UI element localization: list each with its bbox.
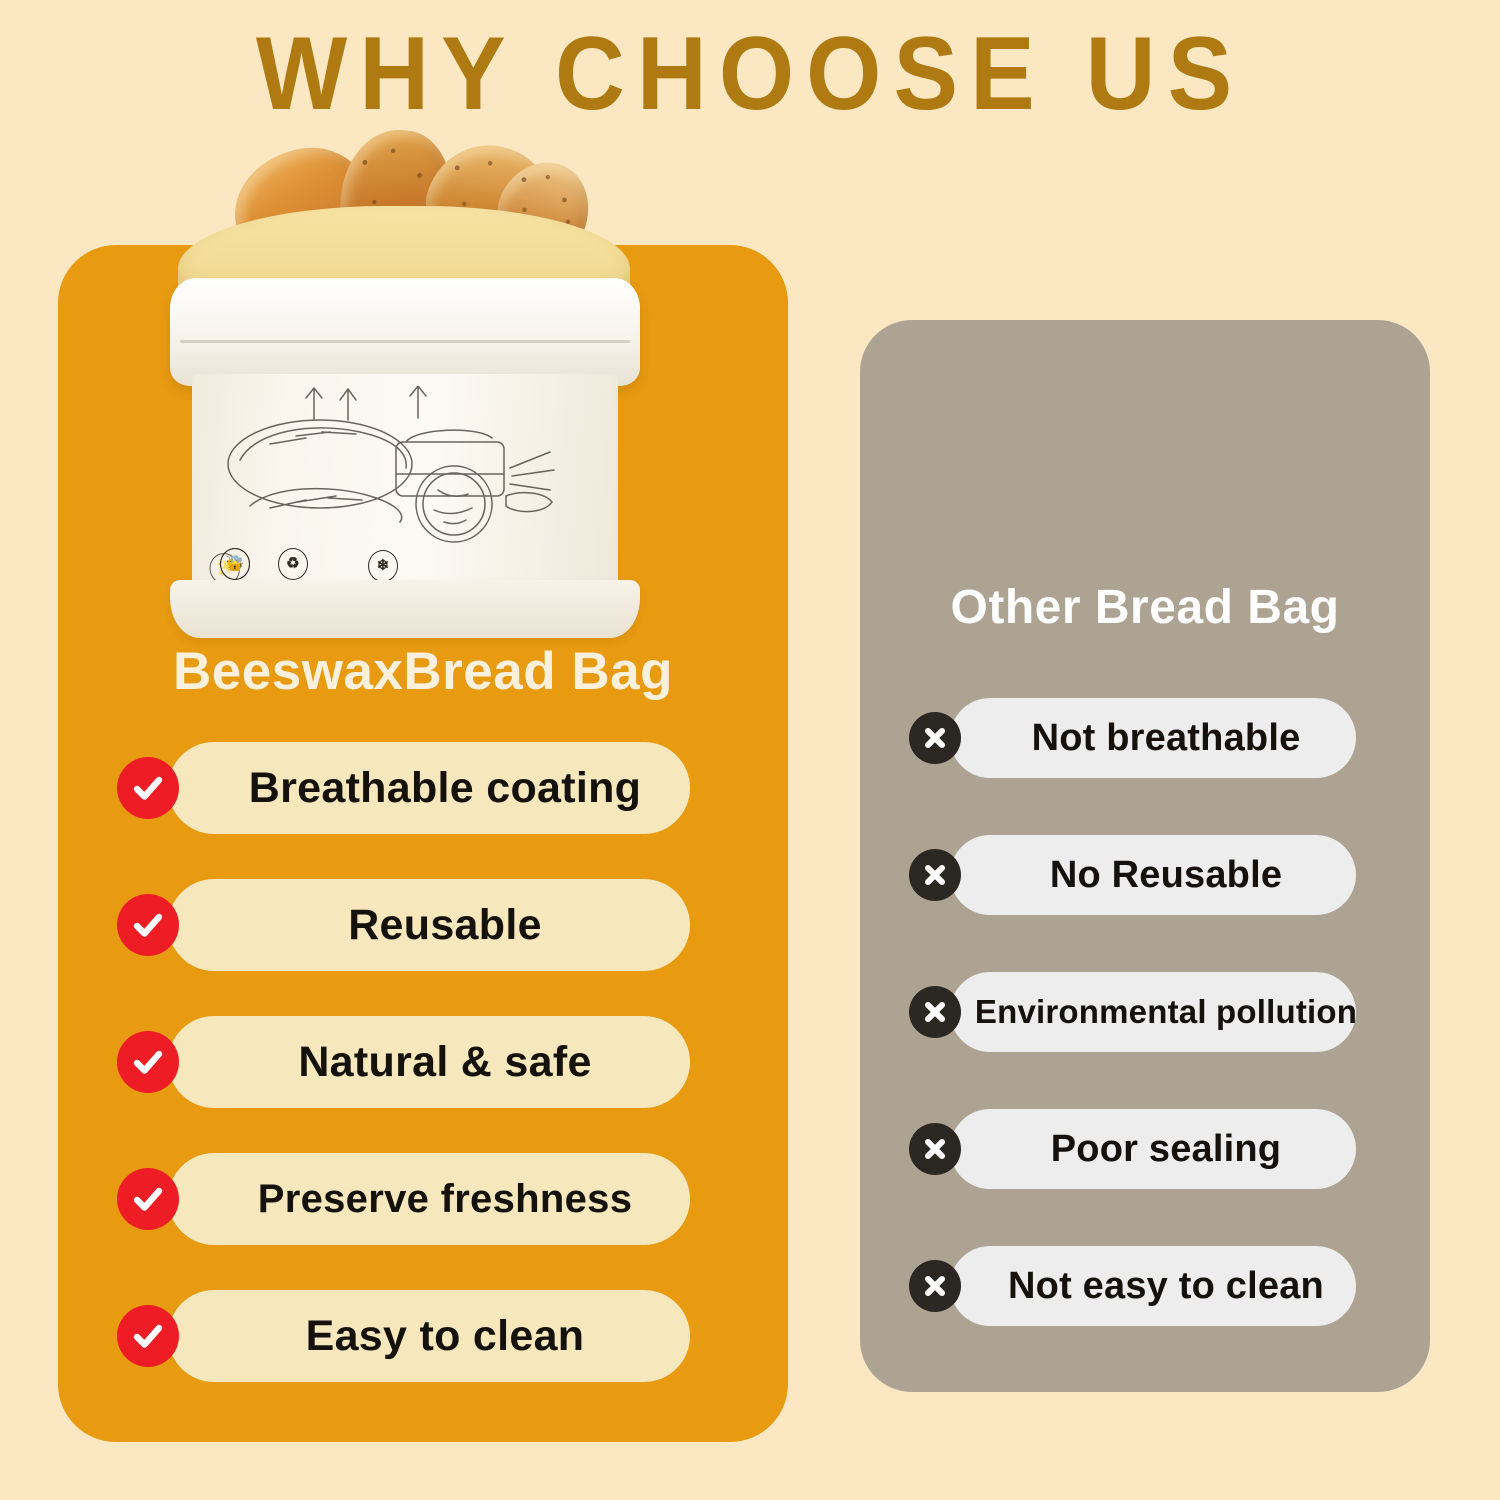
right-feature-pill: Environmental pollution [950, 972, 1356, 1052]
page-title: WHY CHOOSE US [53, 18, 1448, 130]
bag-cuff [170, 278, 640, 386]
cross-circle-icon [909, 712, 961, 764]
right-feature-pill: Not breathable [950, 698, 1356, 778]
check-circle-icon [117, 757, 179, 819]
right-column-heading: Other Bread Bag [860, 580, 1430, 635]
right-feature-pill: Not easy to clean [950, 1246, 1356, 1326]
cross-circle-icon [909, 986, 961, 1038]
cross-circle-icon [909, 1260, 961, 1312]
infographic-page: WHY CHOOSE US [0, 0, 1500, 1500]
left-feature-label: Breathable coating [249, 764, 641, 813]
check-circle-icon [117, 1031, 179, 1093]
check-circle-icon [117, 1168, 179, 1230]
check-circle-icon [117, 894, 179, 956]
right-feature-label: Not easy to clean [1008, 1265, 1324, 1308]
left-feature-label: Easy to clean [306, 1312, 585, 1361]
left-feature-pill: Preserve freshness [168, 1153, 690, 1245]
left-feature-label: Preserve freshness [258, 1177, 633, 1222]
right-feature-label: Environmental pollution [975, 993, 1357, 1031]
lock-icon: 🔒 [220, 548, 250, 580]
cross-circle-icon [909, 849, 961, 901]
left-feature-pill: Reusable [168, 879, 690, 971]
left-feature-label: Reusable [348, 901, 542, 950]
right-feature-label: Not breathable [1032, 717, 1301, 760]
recycle-icon: ♻ [278, 548, 308, 580]
bread-lineart-print [210, 386, 562, 546]
right-feature-label: No Reusable [1050, 854, 1282, 897]
left-feature-pill: Natural & safe [168, 1016, 690, 1108]
left-column-heading: BeeswaxBread Bag [58, 641, 788, 702]
bag-bottom [170, 580, 640, 638]
check-circle-icon [117, 1305, 179, 1367]
beeswax-bread-bag-photo: ✨ EASY TO CLEAN ♻ REUSE& RECYCLE ❄ FREEZ… [170, 128, 640, 643]
left-feature-pill: Breathable coating [168, 742, 690, 834]
cross-circle-icon [909, 1123, 961, 1175]
snowflake-icon: ❄ [368, 550, 398, 582]
left-feature-label: Natural & safe [298, 1038, 591, 1087]
left-feature-pill: Easy to clean [168, 1290, 690, 1382]
right-feature-pill: No Reusable [950, 835, 1356, 915]
right-feature-pill: Poor sealing [950, 1109, 1356, 1189]
right-feature-label: Poor sealing [1051, 1128, 1281, 1171]
